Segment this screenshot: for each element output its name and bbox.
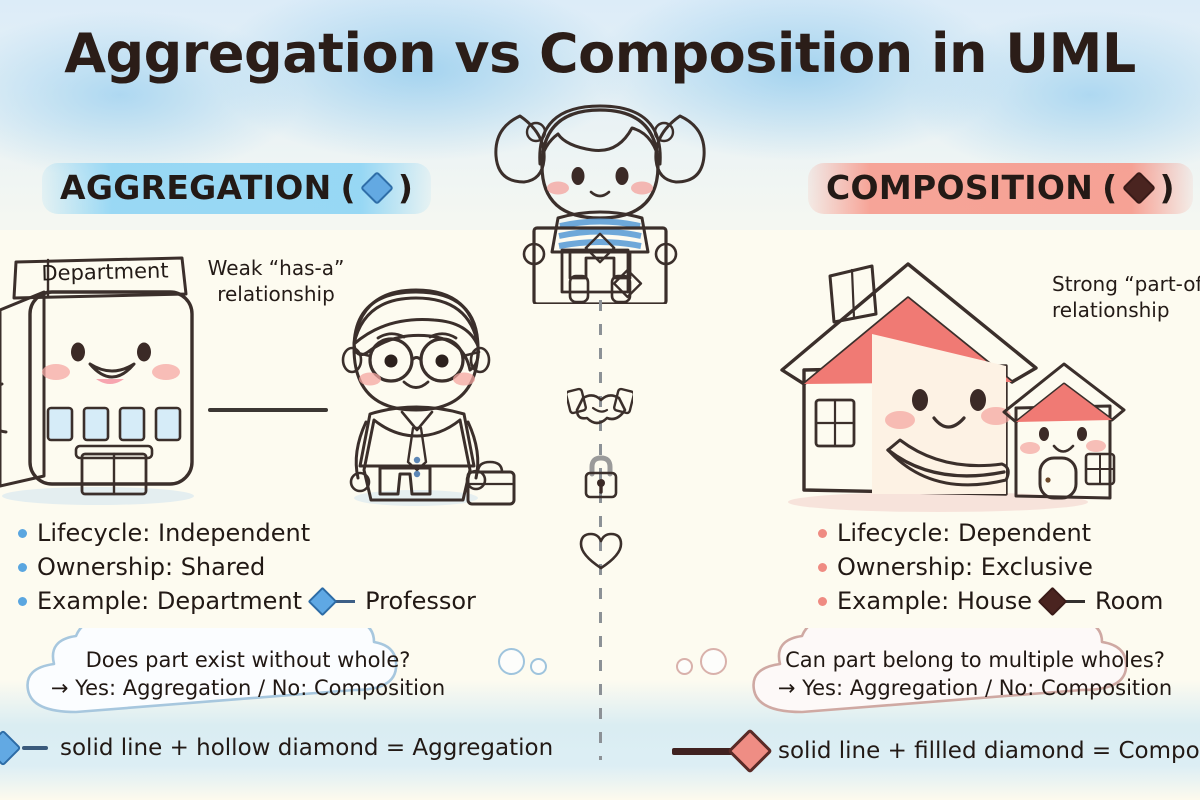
section-header-aggregation: AGGREGATION ( )	[42, 163, 431, 214]
page-title: Aggregation vs Composition in UML	[0, 22, 1200, 85]
composition-bullet-lifecycle: Lifecycle: Dependent	[837, 516, 1091, 550]
composition-legend-label: solid line + fillled diamond = Compositi…	[778, 738, 1200, 764]
section-header-composition: COMPOSITION ( )	[808, 163, 1193, 214]
professor-illustration	[318, 282, 518, 512]
aggregation-annotation-line2: relationship	[196, 282, 356, 308]
list-item: Ownership: Exclusive	[818, 550, 1163, 584]
aggregation-bullet-list: Lifecycle: Independent Ownership: Shared…	[18, 516, 476, 618]
composition-example-suffix: Room	[1095, 584, 1163, 618]
filled-diamond-icon	[1122, 171, 1156, 205]
mascot-girl-illustration	[486, 92, 714, 308]
illustration-canvas: Aggregation vs Composition in UML AGGREG…	[0, 0, 1200, 800]
composition-bullet-ownership: Ownership: Exclusive	[837, 550, 1093, 584]
hollow-diamond-icon	[0, 730, 21, 767]
list-item: Ownership: Shared	[18, 550, 476, 584]
composition-question-cloud: Can part belong to multiple wholes? → Ye…	[740, 628, 1200, 720]
aggregation-relation-symbol	[312, 591, 355, 612]
cloud-trail-bubble-small	[530, 658, 547, 675]
list-item: Example: Department Professor	[18, 584, 476, 618]
hollow-diamond-icon	[308, 586, 338, 616]
hollow-diamond-icon	[360, 171, 394, 205]
aggregation-cloud-line2: → Yes: Aggregation / No: Composition	[51, 674, 445, 702]
composition-bullet-list: Lifecycle: Dependent Ownership: Exclusiv…	[818, 516, 1163, 618]
legend-line	[22, 746, 48, 750]
padlock-icon	[583, 454, 619, 504]
composition-annotation-line1: Strong “part-of”	[1052, 272, 1200, 298]
composition-paren-open: (	[1102, 168, 1117, 207]
bullet-dot-icon	[18, 563, 27, 572]
aggregation-paren-close: )	[398, 168, 413, 207]
legend-line	[672, 748, 736, 755]
bullet-dot-icon	[18, 597, 27, 606]
department-building-illustration: Department	[0, 248, 216, 512]
aggregation-association-line	[208, 408, 328, 412]
cloud-trail-bubble-large	[498, 648, 525, 675]
handshake-icon	[567, 382, 633, 432]
department-sign-label: Department	[30, 258, 181, 286]
cloud-trail-bubble-small	[676, 658, 693, 675]
aggregation-bullet-lifecycle: Lifecycle: Independent	[37, 516, 310, 550]
bullet-dot-icon	[818, 597, 827, 606]
aggregation-legend: solid line + hollow diamond = Aggregatio…	[0, 735, 553, 761]
aggregation-bullet-ownership: Ownership: Shared	[37, 550, 265, 584]
composition-annotation-line2: relationship	[1052, 298, 1200, 324]
composition-heading-label: COMPOSITION	[826, 168, 1093, 207]
composition-paren-close: )	[1160, 168, 1175, 207]
list-item: Lifecycle: Dependent	[818, 516, 1163, 550]
list-item: Lifecycle: Independent	[18, 516, 476, 550]
cloud-trail-bubble-large	[700, 648, 727, 675]
composition-example-prefix: Example: House	[837, 584, 1032, 618]
filled-diamond-icon	[1038, 586, 1068, 616]
aggregation-annotation-line1: Weak “has-a”	[196, 256, 356, 282]
aggregation-question-cloud: Does part exist without whole? → Yes: Ag…	[16, 628, 480, 720]
aggregation-example-prefix: Example: Department	[37, 584, 302, 618]
bullet-dot-icon	[818, 529, 827, 538]
aggregation-annotation: Weak “has-a” relationship	[196, 256, 356, 307]
composition-annotation: Strong “part-of” relationship	[1052, 272, 1200, 323]
aggregation-cloud-line1: Does part exist without whole?	[86, 646, 411, 674]
aggregation-paren-open: (	[341, 168, 356, 207]
composition-legend: solid line + fillled diamond = Compositi…	[672, 735, 1200, 767]
composition-cloud-line2: → Yes: Aggregation / No: Composition	[778, 674, 1172, 702]
aggregation-example-suffix: Professor	[365, 584, 476, 618]
bullet-dot-icon	[818, 563, 827, 572]
composition-cloud-line1: Can part belong to multiple wholes?	[785, 646, 1165, 674]
heart-icon	[578, 530, 624, 576]
aggregation-heading-label: AGGREGATION	[60, 168, 332, 207]
bullet-dot-icon	[18, 529, 27, 538]
filled-diamond-icon	[727, 728, 772, 773]
composition-relation-symbol	[1042, 591, 1085, 612]
list-item: Example: House Room	[818, 584, 1163, 618]
aggregation-legend-label: solid line + hollow diamond = Aggregatio…	[60, 735, 553, 761]
